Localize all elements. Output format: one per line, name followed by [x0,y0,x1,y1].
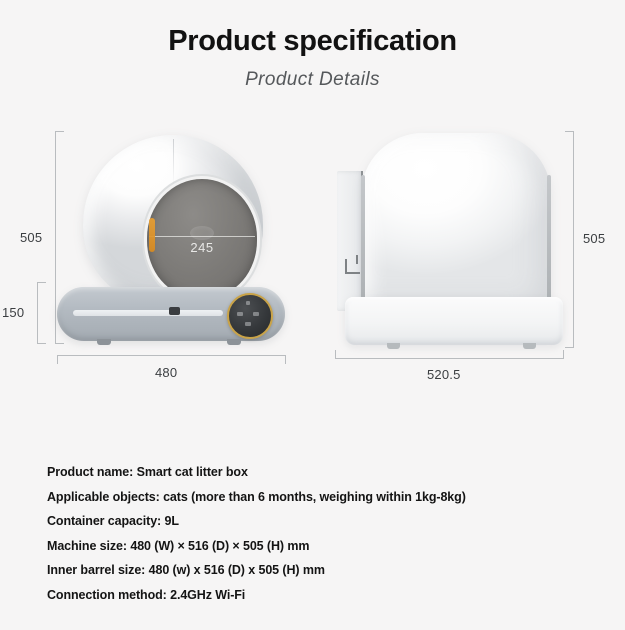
base-sensor-icon [169,307,180,315]
side-foot-left [387,343,400,349]
side-rail-left [361,175,365,303]
side-foot-right [523,343,536,349]
side-depth-tick-right [563,350,564,359]
page-subtitle: Product Details [0,69,625,91]
front-view-group: 505 150 245 [55,127,290,387]
specifications-list: Product name: Smart cat litter box Appli… [47,466,592,613]
spec-applicable-objects: Applicable objects: cats (more than 6 mo… [47,491,592,504]
spec-product-name: Product name: Smart cat litter box [47,466,592,479]
side-height-label: 505 [583,231,605,246]
front-base-height-dimension-line [37,282,38,343]
front-width-label: 480 [155,365,177,380]
dial-marking-bottom [245,322,251,326]
front-foot-left [97,339,111,345]
side-depth-dimension-line [335,358,563,359]
side-depth-tick-left [335,350,336,359]
front-width-tick-left [57,355,58,364]
front-dome-body: 245 [83,135,263,307]
page-title: Product specification [0,26,625,58]
front-opening: 245 [147,179,257,297]
front-base-unit [57,287,285,341]
dial-marking-right [253,312,259,316]
spec-container-capacity: Container capacity: 9L [47,515,592,528]
dial-marking-top [246,301,250,305]
front-width-dimension-line [57,355,285,356]
side-view-group: 505 520.5 [335,127,585,387]
base-light-slot [73,310,223,316]
opening-hub [190,226,214,240]
spec-machine-size: Machine size: 480 (W) × 516 (D) × 505 (H… [47,540,592,553]
side-dome-body [361,133,551,311]
product-diagram-stage: 505 150 245 [0,127,625,427]
side-latch-icon [345,259,360,274]
front-base-height-tick-top [37,282,46,283]
front-width-tick-right [285,355,286,364]
side-base-unit [345,297,563,345]
front-foot-right [227,339,241,345]
side-depth-label: 520.5 [427,367,461,382]
front-height-tick-bottom [55,343,64,344]
side-back-panel [337,171,363,311]
orange-accent-strip [149,218,155,252]
spec-inner-barrel-size: Inner barrel size: 480 (w) x 516 (D) x 5… [47,564,592,577]
front-height-dimension-line [55,131,56,343]
side-rail-right [547,175,551,303]
side-height-tick-top [565,131,574,132]
spec-connection-method: Connection method: 2.4GHz Wi-Fi [47,589,592,602]
front-base-height-label: 150 [2,305,24,320]
front-height-label: 505 [20,230,42,245]
page-header: Product specification Product Details [0,0,625,91]
dial-marking-left [237,312,243,316]
side-height-tick-bottom [565,347,574,348]
control-dial [227,293,273,339]
front-base-height-tick-bottom [37,343,46,344]
side-height-dimension-line [573,131,574,347]
front-height-tick-top [55,131,64,132]
opening-depth-value: 245 [147,240,257,255]
